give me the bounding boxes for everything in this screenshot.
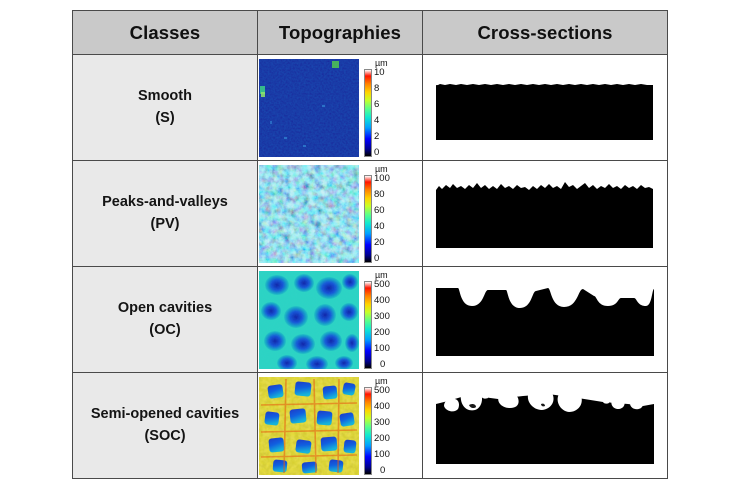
colorbar-tick: 300	[374, 418, 390, 427]
cross-section-wrap	[423, 161, 667, 266]
topography-image-open-cavities	[259, 271, 359, 369]
table-row: Semi-opened cavities (SOC)	[73, 373, 668, 479]
colorbar-tick: 400	[374, 296, 390, 305]
topography-wrap: µm 500 400 300 200 100 0	[258, 267, 422, 372]
colorbar-body: 500 400 300 200 100 0	[364, 281, 402, 369]
column-header-cross-sections: Cross-sections	[423, 11, 668, 55]
topography-cell-semi-opened-cavities: µm 500 400 300 200 100 0	[258, 373, 423, 479]
colorbar-smooth: µm 10 8 6 4 2 0	[364, 59, 402, 157]
colorbar-tick: 500	[374, 386, 390, 395]
colorbar-tick: 20	[374, 238, 385, 247]
colorbar-tick: 0	[374, 148, 379, 157]
class-name: Peaks-and-valleys	[73, 192, 257, 213]
topography-cell-open-cavities: µm 500 400 300 200 100 0	[258, 267, 423, 373]
cross-section-cell-open-cavities	[423, 267, 668, 373]
class-abbreviation: (PV)	[73, 214, 257, 235]
colorbar-ticks: 500 400 300 200 100 0	[374, 281, 402, 369]
class-label-cell-peaks-and-valleys: Peaks-and-valleys (PV)	[73, 161, 258, 267]
colorbar-semi-opened-cavities: µm 500 400 300 200 100 0	[364, 377, 402, 475]
colorbar-tick: 80	[374, 190, 385, 199]
colorbar-tick: 2	[374, 132, 379, 141]
colorbar-gradient	[364, 281, 372, 369]
class-label-cell-semi-opened-cavities: Semi-opened cavities (SOC)	[73, 373, 258, 479]
figure-root: Classes Topographies Cross-sections Smoo…	[0, 0, 741, 486]
topography-image-smooth	[259, 59, 359, 157]
cross-section-cell-peaks-and-valleys	[423, 161, 668, 267]
colorbar-tick: 0	[374, 254, 379, 263]
topography-cell-smooth: µm 10 8 6 4 2 0	[258, 55, 423, 161]
cross-section-wrap	[423, 267, 667, 372]
cross-section-image-open-cavities	[428, 276, 663, 364]
colorbar-tick: 60	[374, 206, 385, 215]
colorbar-gradient	[364, 69, 372, 157]
colorbar-tick: 40	[374, 222, 385, 231]
table-row: Smooth (S)	[73, 55, 668, 161]
table-body: Smooth (S)	[73, 55, 668, 479]
colorbar-tick: 4	[374, 116, 379, 125]
topography-wrap: µm 500 400 300 200 100 0	[258, 373, 422, 478]
class-abbreviation: (S)	[73, 108, 257, 129]
colorbar-tick: 200	[374, 434, 390, 443]
colorbar-tick: 200	[374, 328, 390, 337]
topography-image-peaks-and-valleys	[259, 165, 359, 263]
class-label-cell-smooth: Smooth (S)	[73, 55, 258, 161]
colorbar-gradient	[364, 387, 372, 475]
colorbar-ticks: 500 400 300 200 100 0	[374, 387, 402, 475]
topography-image-semi-opened-cavities	[259, 377, 359, 475]
topography-cell-peaks-and-valleys: µm 100 80 60 40 20 0	[258, 161, 423, 267]
cross-section-cell-smooth	[423, 55, 668, 161]
colorbar-tick: 6	[374, 100, 379, 109]
colorbar-tick: 300	[374, 312, 390, 321]
colorbar-open-cavities: µm 500 400 300 200 100 0	[364, 271, 402, 369]
colorbar-tick: 400	[374, 402, 390, 411]
cross-section-cell-semi-opened-cavities	[423, 373, 668, 479]
column-header-classes: Classes	[73, 11, 258, 55]
column-header-topographies: Topographies	[258, 11, 423, 55]
table-header: Classes Topographies Cross-sections	[73, 11, 668, 55]
table-row: Peaks-and-valleys (PV)	[73, 161, 668, 267]
colorbar-tick: 100	[374, 450, 390, 459]
colorbar-tick: 10	[374, 68, 385, 77]
colorbar-ticks: 100 80 60 40 20 0	[374, 175, 402, 263]
table-row: Open cavities (OC)	[73, 267, 668, 373]
colorbar-body: 500 400 300 200 100 0	[364, 387, 402, 475]
colorbar-tick: 0	[380, 360, 385, 369]
cross-section-image-smooth	[428, 64, 663, 152]
cross-section-wrap	[423, 55, 667, 160]
class-name: Smooth	[73, 86, 257, 107]
colorbar-body: 100 80 60 40 20 0	[364, 175, 402, 263]
colorbar-tick: 100	[374, 344, 390, 353]
class-label-cell-open-cavities: Open cavities (OC)	[73, 267, 258, 373]
colorbar-gradient	[364, 175, 372, 263]
class-name: Open cavities	[73, 298, 257, 319]
cross-section-wrap	[423, 373, 667, 478]
colorbar-tick: 0	[380, 466, 385, 475]
class-abbreviation: (SOC)	[73, 426, 257, 447]
cross-section-image-semi-opened-cavities	[428, 382, 663, 470]
cross-section-image-peaks-and-valleys	[428, 170, 663, 258]
colorbar-tick: 500	[374, 280, 390, 289]
class-abbreviation: (OC)	[73, 320, 257, 341]
class-name: Semi-opened cavities	[73, 404, 257, 425]
surface-classes-table: Classes Topographies Cross-sections Smoo…	[72, 10, 668, 479]
header-row: Classes Topographies Cross-sections	[73, 11, 668, 55]
topography-wrap: µm 10 8 6 4 2 0	[258, 55, 422, 160]
colorbar-tick: 100	[374, 174, 390, 183]
colorbar-peaks-and-valleys: µm 100 80 60 40 20 0	[364, 165, 402, 263]
colorbar-body: 10 8 6 4 2 0	[364, 69, 402, 157]
colorbar-tick: 8	[374, 84, 379, 93]
colorbar-ticks: 10 8 6 4 2 0	[374, 69, 402, 157]
topography-wrap: µm 100 80 60 40 20 0	[258, 161, 422, 266]
